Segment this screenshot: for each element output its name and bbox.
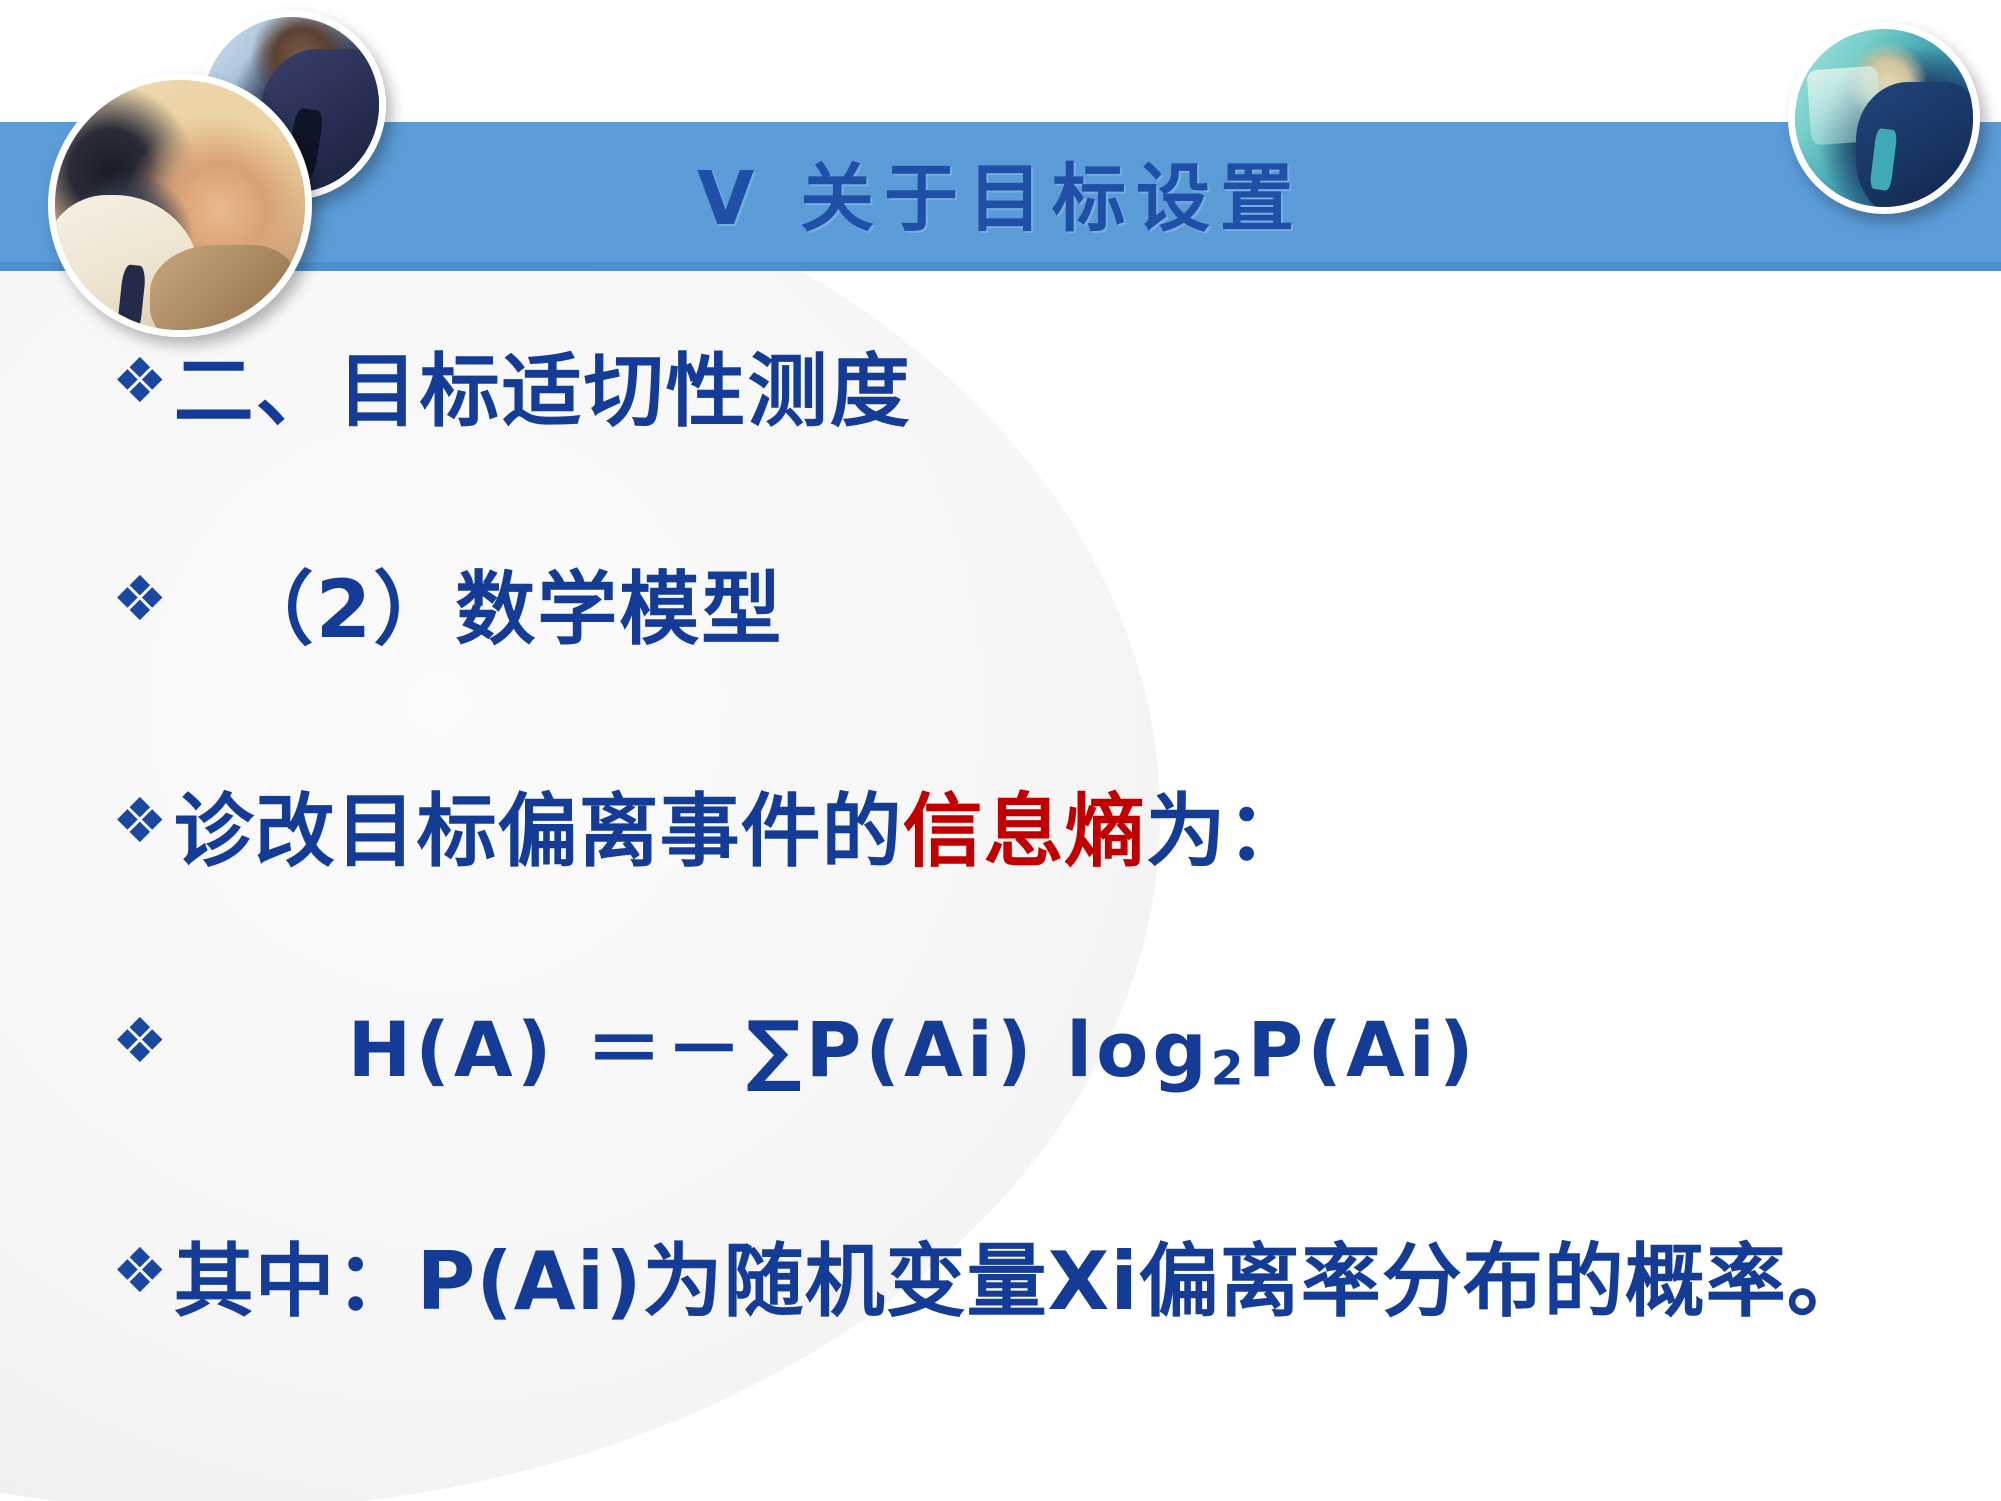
formula-mid: P(Ai) log <box>806 1005 1211 1094</box>
team-at-laptop-photo <box>48 73 312 337</box>
diamond-bullet-icon: ❖ <box>112 1240 168 1302</box>
entropy-statement-suffix: 为： <box>1146 785 1308 878</box>
diamond-bullet-icon: ❖ <box>112 568 168 630</box>
entropy-statement-prefix: 诊改目标偏离事件的 <box>174 785 903 878</box>
bullet-text-sub-heading-2: （2）数学模型 <box>234 568 784 652</box>
presenter-at-whiteboard-photo <box>1788 22 1980 214</box>
entropy-formula: H(A) ＝－∑P(Ai) log2P(Ai) <box>348 1010 1478 1094</box>
diamond-bullet-icon: ❖ <box>112 790 168 852</box>
bullet-line-formula: ❖ H(A) ＝－∑P(Ai) log2P(Ai) <box>112 1010 1478 1094</box>
diamond-bullet-icon: ❖ <box>112 350 168 412</box>
summation-symbol: ∑ <box>746 1005 806 1095</box>
bullet-line-sub-heading-2: ❖ （2）数学模型 <box>112 568 783 652</box>
entropy-statement-text: 诊改目标偏离事件的信息熵为： <box>174 790 1308 874</box>
formula-tail: P(Ai) <box>1248 1005 1478 1094</box>
bullet-line-entropy-statement: ❖ 诊改目标偏离事件的信息熵为： <box>112 790 1308 874</box>
where-note-text: 其中：P(Ai)为随机变量Xi偏离率分布的概率。 <box>174 1240 1868 1324</box>
formula-head: H(A) ＝－ <box>348 1005 746 1094</box>
title-banner-bottom-edge <box>0 262 2001 271</box>
entropy-statement-highlight: 信息熵 <box>903 785 1146 878</box>
presentation-slide: Ⅴ 关于目标设置 ❖ 二、目标适切性测度 ❖ （2）数学模型 <box>0 0 2001 1501</box>
bullet-text-heading-2: 二、目标适切性测度 <box>174 350 912 434</box>
bullet-line-heading-2: ❖ 二、目标适切性测度 <box>112 350 912 434</box>
formula-log-base: 2 <box>1211 1041 1248 1096</box>
diamond-bullet-icon: ❖ <box>112 1010 168 1072</box>
bullet-line-where-note: ❖ 其中：P(Ai)为随机变量Xi偏离率分布的概率。 <box>112 1240 1868 1324</box>
